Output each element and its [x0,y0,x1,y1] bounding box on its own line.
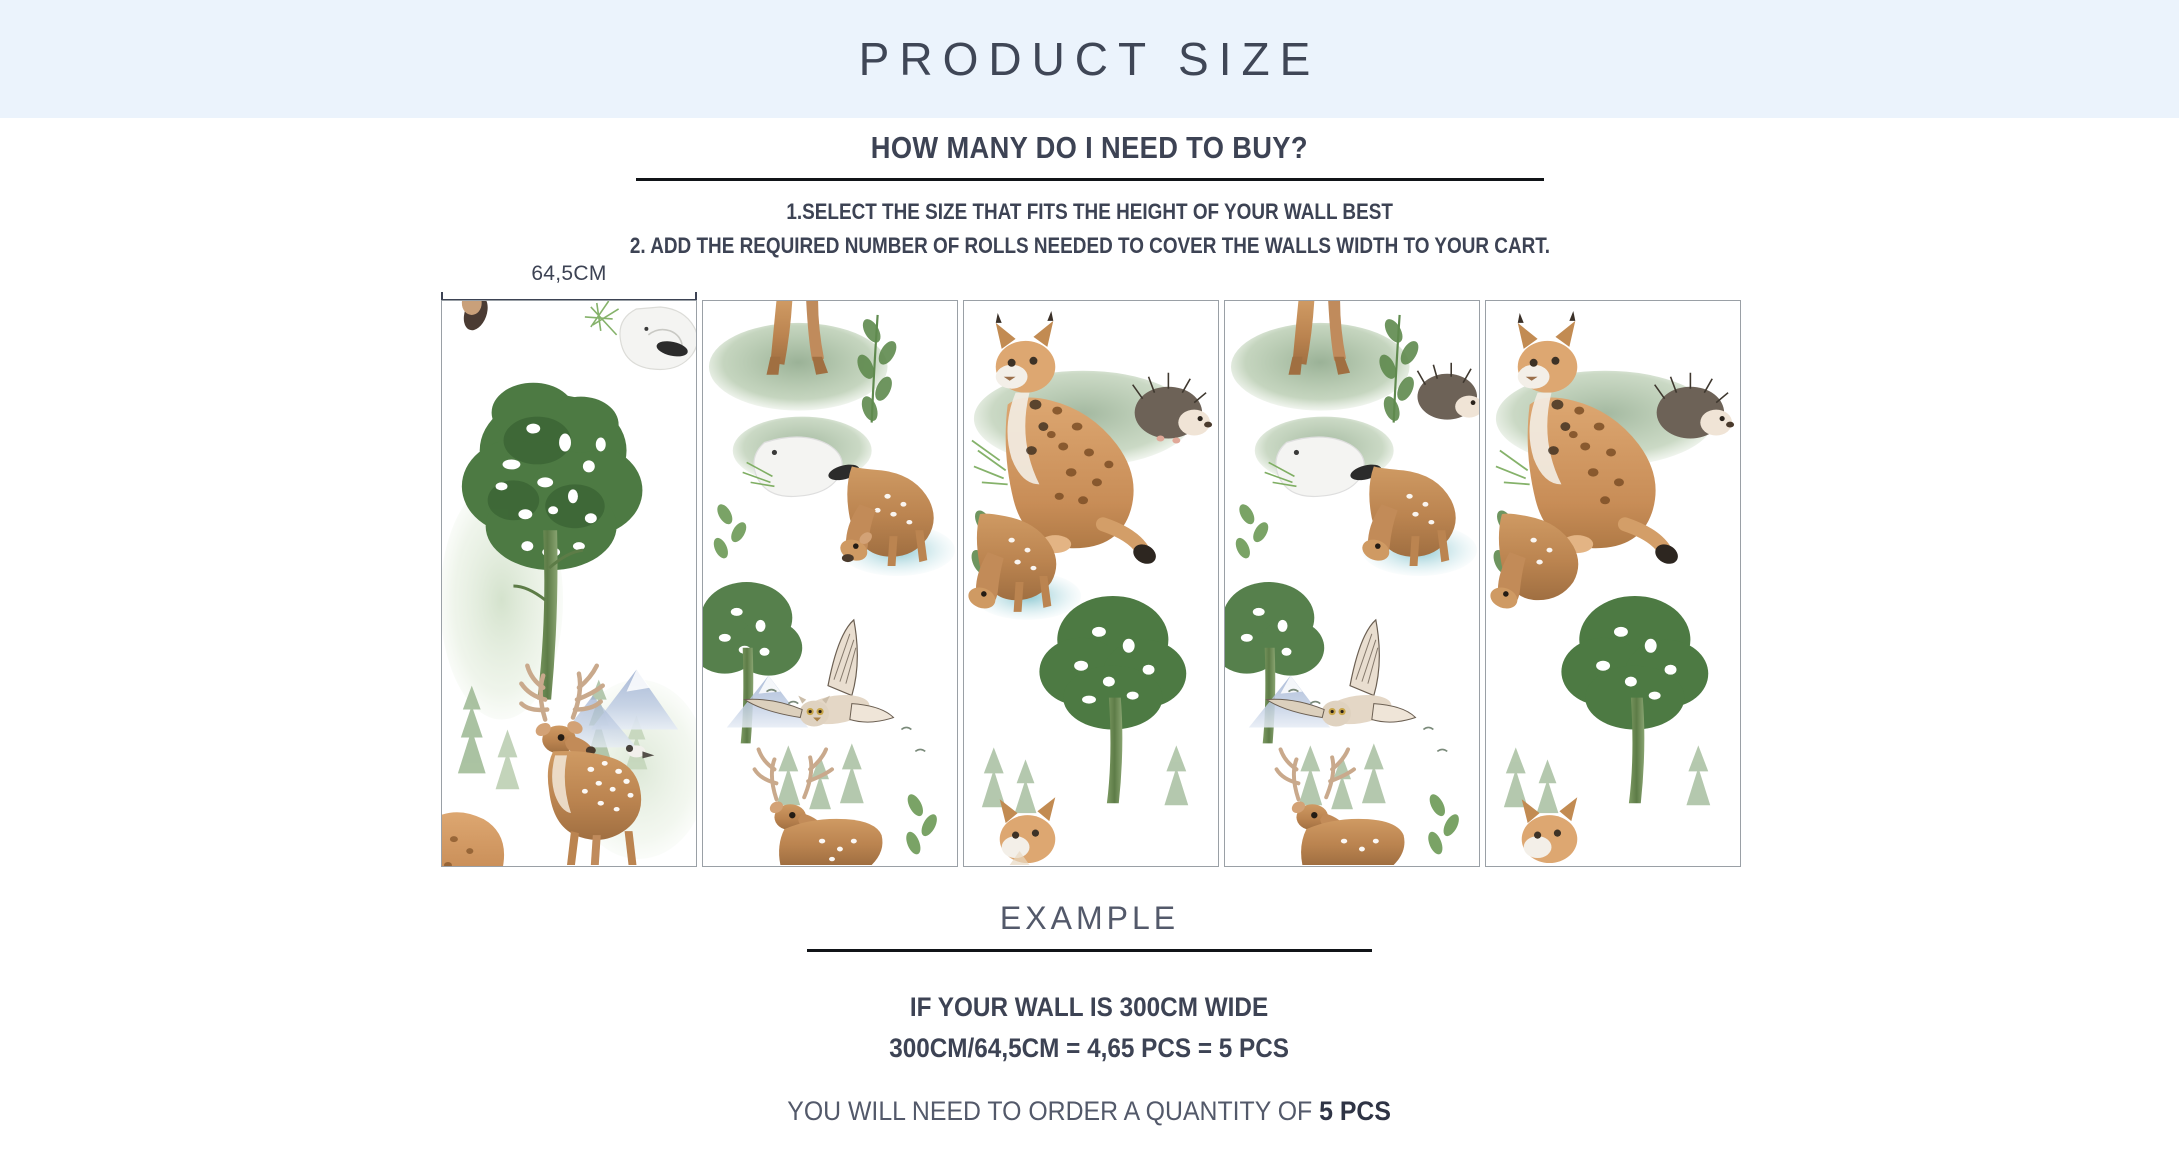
step-2-wrap: 2. ADD THE REQUIRED NUMBER OF ROLLS NEED… [0,225,2179,259]
example-title-wrap: EXAMPLE [0,900,2179,937]
example-line-1-wrap: IF YOUR WALL IS 300CM WIDE [0,952,2179,1023]
example-line-3-wrap: YOU WILL NEED TO ORDER A QUANTITY OF 5 P… [0,1064,2179,1127]
example-order-quantity: YOU WILL NEED TO ORDER A QUANTITY OF 5 P… [788,1096,1392,1127]
instruction-step-1: 1.SELECT THE SIZE THAT FITS THE HEIGHT O… [786,199,1393,225]
page-title: PRODUCT SIZE [859,32,1321,86]
instructions-heading-wrap: HOW MANY DO I NEED TO BUY? [0,130,2179,166]
instructions-heading: HOW MANY DO I NEED TO BUY? [871,130,1308,166]
wallpaper-artwork [964,301,1218,866]
example-wall-width: IF YOUR WALL IS 300CM WIDE [910,992,1268,1023]
wallpaper-panel[interactable] [702,300,958,867]
example-calculation: 300CM/64,5CM = 4,65 PCS = 5 PCS [890,1033,1290,1064]
wallpaper-panel[interactable] [963,300,1219,867]
instruction-step-2: 2. ADD THE REQUIRED NUMBER OF ROLLS NEED… [629,233,1549,259]
wallpaper-panel-strip [441,300,1741,867]
step-1-wrap: 1.SELECT THE SIZE THAT FITS THE HEIGHT O… [0,181,2179,225]
order-quantity-value: 5 PCS [1320,1096,1392,1126]
example-title: EXAMPLE [1000,900,1179,937]
wallpaper-panel[interactable] [1485,300,1741,867]
wallpaper-panel[interactable] [441,300,697,867]
wallpaper-artwork [442,301,696,866]
order-quantity-prefix: YOU WILL NEED TO ORDER A QUANTITY OF [788,1096,1320,1126]
example-line-2-wrap: 300CM/64,5CM = 4,65 PCS = 5 PCS [0,1023,2179,1064]
roll-width-label: 64,5CM [441,262,697,286]
wallpaper-artwork [703,301,957,866]
page-header-band: PRODUCT SIZE [0,0,2179,118]
wallpaper-panel[interactable] [1224,300,1480,867]
example-section: EXAMPLE IF YOUR WALL IS 300CM WIDE 300CM… [0,900,2179,1127]
wallpaper-artwork [1486,301,1740,866]
wallpaper-artwork [1225,301,1479,866]
instructions-section: HOW MANY DO I NEED TO BUY? 1.SELECT THE … [0,130,2179,259]
